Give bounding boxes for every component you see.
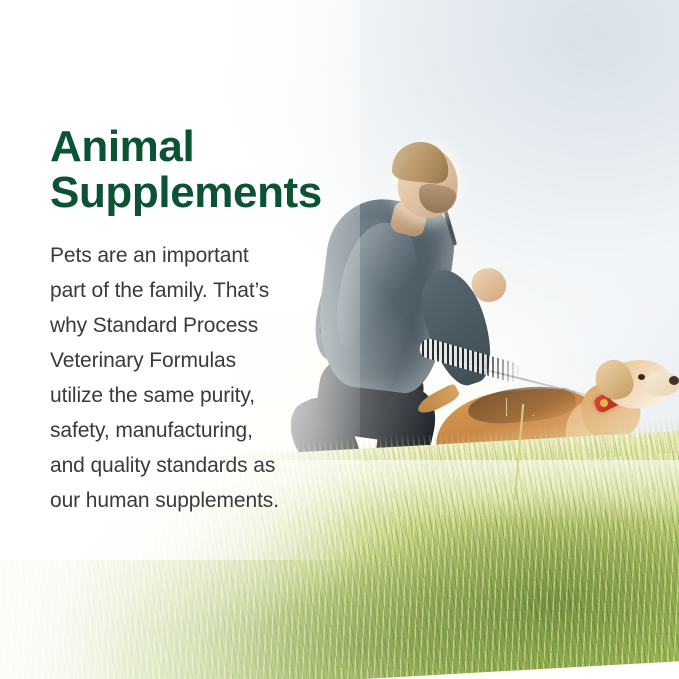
dog-nose [669,376,679,385]
dog-eye [638,374,645,380]
copy-block: Animal Supplements Pets are an important… [50,124,336,518]
weed-seedhead [506,398,534,416]
animal-supplements-poster: Animal Supplements Pets are an important… [0,0,679,679]
body-paragraph: Pets are an important part of the family… [50,238,336,518]
page-title: Animal Supplements [50,124,336,216]
